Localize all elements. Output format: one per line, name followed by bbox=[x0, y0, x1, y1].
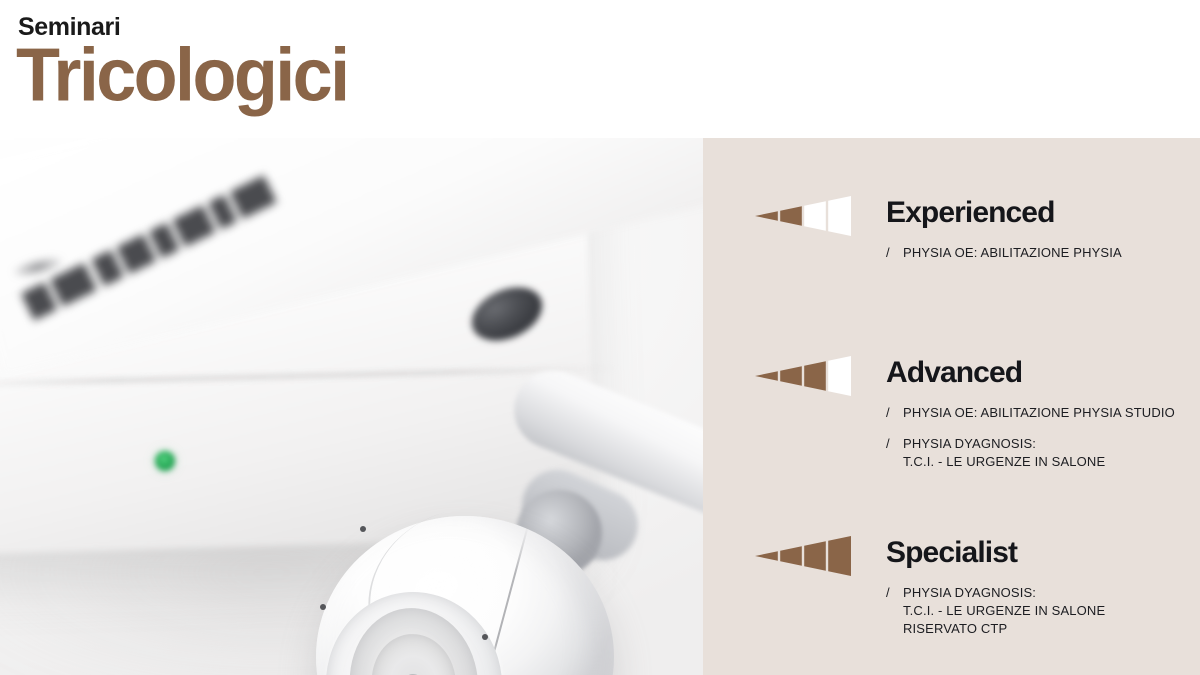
meter-segment-empty bbox=[828, 356, 851, 396]
branding-block bbox=[91, 250, 124, 287]
level-header-experienced: Experienced bbox=[703, 194, 1200, 240]
probe-screw-dot bbox=[482, 634, 488, 640]
list-item: / PHYSIA DYAGNOSIS: T.C.I. - LE URGENZE … bbox=[886, 584, 1196, 638]
list-item-lines: PHYSIA DYAGNOSIS: T.C.I. - LE URGENZE IN… bbox=[903, 584, 1196, 638]
meter-segment-filled bbox=[780, 366, 802, 386]
slide-root: Seminari Tricologici bbox=[0, 0, 1200, 675]
photo-canvas bbox=[0, 138, 703, 675]
bullet-slash: / bbox=[886, 584, 903, 601]
list-item-lines: PHYSIA OE: ABILITAZIONE PHYSIA bbox=[903, 244, 1196, 262]
level-header-specialist: Specialist bbox=[703, 534, 1200, 580]
list-item-line: PHYSIA OE: ABILITAZIONE PHYSIA bbox=[903, 245, 1122, 260]
level-items-specialist: / PHYSIA DYAGNOSIS: T.C.I. - LE URGENZE … bbox=[886, 584, 1196, 638]
level-meter-icon bbox=[755, 536, 851, 576]
level-block-experienced[interactable]: Experienced / PHYSIA OE: ABILITAZIONE PH… bbox=[703, 194, 1200, 240]
list-item-line: PHYSIA OE: ABILITAZIONE PHYSIA STUDIO bbox=[903, 405, 1175, 420]
meter-segment-filled bbox=[780, 206, 802, 226]
branding-block bbox=[116, 234, 156, 274]
level-items-advanced: / PHYSIA OE: ABILITAZIONE PHYSIA STUDIO … bbox=[886, 404, 1196, 471]
list-item-line: T.C.I. - LE URGENZE IN SALONE bbox=[903, 603, 1105, 618]
meter-segment-empty bbox=[828, 196, 851, 236]
probe-lens-inner-ring bbox=[367, 630, 461, 675]
levels-panel: Experienced / PHYSIA OE: ABILITAZIONE PH… bbox=[703, 138, 1200, 675]
bullet-slash: / bbox=[886, 404, 903, 421]
meter-segment-filled bbox=[780, 546, 802, 566]
level-header-advanced: Advanced bbox=[703, 354, 1200, 400]
header-band: Seminari Tricologici bbox=[0, 0, 1200, 138]
level-items-experienced: / PHYSIA OE: ABILITAZIONE PHYSIA bbox=[886, 244, 1196, 262]
level-meter-icon bbox=[755, 356, 851, 396]
level-title: Experienced bbox=[886, 190, 1055, 235]
product-photo bbox=[0, 138, 703, 675]
green-status-led bbox=[155, 451, 175, 471]
bullet-slash: / bbox=[886, 435, 903, 452]
list-item-lines: PHYSIA OE: ABILITAZIONE PHYSIA STUDIO bbox=[903, 404, 1196, 422]
probe-screw-dot bbox=[320, 604, 326, 610]
list-item-lines: PHYSIA DYAGNOSIS: T.C.I. - LE URGENZE IN… bbox=[903, 435, 1196, 471]
level-meter-icon bbox=[755, 196, 851, 236]
level-title: Advanced bbox=[886, 350, 1022, 395]
branding-block bbox=[172, 205, 216, 247]
list-item-line: PHYSIA DYAGNOSIS: bbox=[903, 585, 1036, 600]
probe-screw-dot bbox=[360, 526, 366, 532]
list-item-line: T.C.I. - LE URGENZE IN SALONE bbox=[903, 454, 1105, 469]
meter-segment-filled bbox=[755, 371, 778, 381]
bullet-slash: / bbox=[886, 244, 903, 261]
meter-segment-filled bbox=[828, 536, 851, 576]
list-item-line: PHYSIA DYAGNOSIS: bbox=[903, 436, 1036, 451]
list-item: / PHYSIA OE: ABILITAZIONE PHYSIA bbox=[886, 244, 1196, 262]
header-wordmark: Tricologici bbox=[16, 38, 347, 113]
list-item: / PHYSIA DYAGNOSIS: T.C.I. - LE URGENZE … bbox=[886, 435, 1196, 471]
meter-segment-empty bbox=[804, 201, 826, 231]
meter-segment-filled bbox=[755, 551, 778, 561]
meter-segment-filled bbox=[804, 541, 826, 571]
meter-segment-filled bbox=[755, 211, 778, 221]
list-item: / PHYSIA OE: ABILITAZIONE PHYSIA STUDIO bbox=[886, 404, 1196, 422]
level-block-specialist[interactable]: Specialist / PHYSIA DYAGNOSIS: T.C.I. - … bbox=[703, 534, 1200, 580]
meter-segment-filled bbox=[804, 361, 826, 391]
level-title: Specialist bbox=[886, 530, 1017, 575]
probe-lens-outer-ring bbox=[342, 602, 485, 675]
level-block-advanced[interactable]: Advanced / PHYSIA OE: ABILITAZIONE PHYSI… bbox=[703, 354, 1200, 400]
list-item-line: RISERVATO CTP bbox=[903, 621, 1007, 636]
